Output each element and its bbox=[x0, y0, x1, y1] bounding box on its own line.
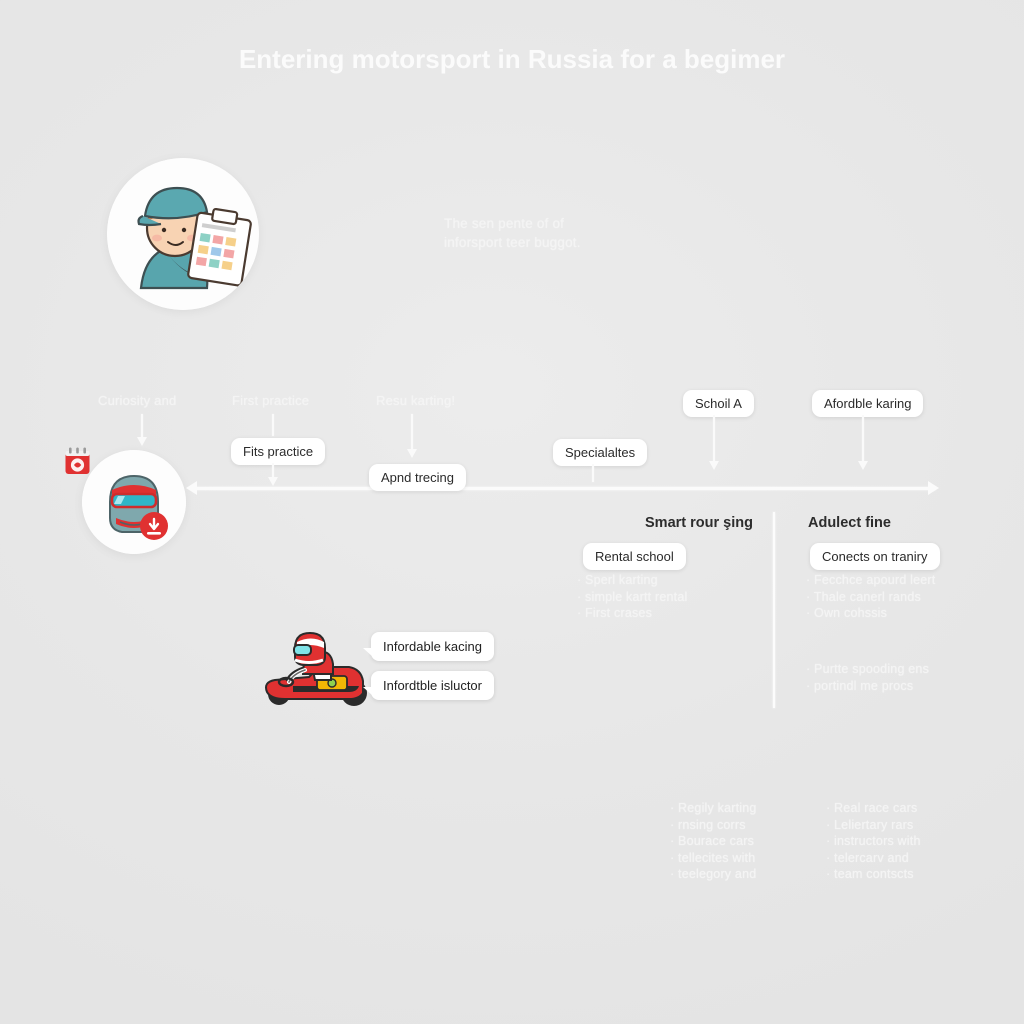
column-2-extra-bullet-1: · Purtte spooding ens bbox=[806, 661, 929, 678]
column-2-extra-bullet-2: · portindl me procs bbox=[806, 678, 929, 695]
timeline-card-specialties[interactable]: Specialaltes bbox=[553, 439, 647, 466]
column-2-bullet-2: · Thale canerl rands bbox=[806, 589, 935, 606]
timeline-stage-label-1: Curiosity and bbox=[98, 393, 176, 408]
footer-col-1-bullet-5: · teelegory and bbox=[670, 866, 757, 883]
column-divider bbox=[773, 512, 775, 708]
go-kart-illustration bbox=[255, 630, 385, 715]
kart-bubble-2[interactable]: Infordtble isluctor bbox=[371, 671, 494, 700]
stage-2-arrow-head bbox=[268, 477, 278, 486]
diagram-canvas: Entering motorsport in Russia for a begi… bbox=[0, 0, 1024, 1024]
column-2-card-contacts[interactable]: Conects on traniry bbox=[810, 543, 940, 570]
stage-4-arrow-line bbox=[592, 464, 594, 482]
column-1-bullet-2: · simple kartt rental bbox=[577, 589, 687, 606]
timeline-card-and-training[interactable]: Apnd trecing bbox=[369, 464, 466, 491]
subtitle-block: The sen pente of of inforsport teer bugg… bbox=[444, 214, 704, 252]
footer-col-1-bullet-1: · Regily karting bbox=[670, 800, 757, 817]
calendar-icon bbox=[64, 446, 91, 476]
column-1-bullet-1: · Sperl karting bbox=[577, 572, 687, 589]
column-1-bullets: · Sperl karting · simple kartt rental · … bbox=[577, 572, 687, 622]
timeline-arrow-left bbox=[186, 481, 197, 495]
footer-col-2-bullet-2: · Leliertary rars bbox=[826, 817, 921, 834]
footer-col-2-bullet-1: · Real race cars bbox=[826, 800, 921, 817]
timeline-card-first-practice[interactable]: Fits practice bbox=[231, 438, 325, 465]
column-1-heading: Smart rour şing bbox=[645, 515, 753, 531]
stage-1-arrow-head bbox=[137, 437, 147, 446]
footer-col-2-bullet-3: · instructors with bbox=[826, 833, 921, 850]
footer-column-2: · Real race cars · Leliertary rars · ins… bbox=[826, 800, 921, 883]
stage-3-arrow-line bbox=[411, 414, 413, 450]
subtitle-line-2: inforsport teer buggot. bbox=[444, 233, 704, 252]
kart-bubble-1[interactable]: Infordable kacing bbox=[371, 632, 494, 661]
footer-col-1-bullet-4: · tellecites with bbox=[670, 850, 757, 867]
stage-6-arrow-head bbox=[858, 461, 868, 470]
stage-2-arrow-line bbox=[272, 414, 274, 436]
stage-6-arrow-line bbox=[862, 415, 864, 463]
timeline-arrow-right bbox=[928, 481, 939, 495]
go-kart-icon bbox=[255, 630, 385, 710]
column-2-bullets: · Fecchce apourd leert · Thale canerl ra… bbox=[806, 572, 935, 622]
racing-helmet-avatar bbox=[82, 450, 186, 554]
footer-col-1-bullet-2: · rnsing corrs bbox=[670, 817, 757, 834]
footer-col-1-bullet-3: · Bourace cars bbox=[670, 833, 757, 850]
page-title: Entering motorsport in Russia for a begi… bbox=[0, 44, 1024, 75]
column-2-heading: Adulect fine bbox=[808, 515, 891, 531]
boy-with-calendar-avatar bbox=[107, 158, 259, 310]
racing-helmet-icon bbox=[82, 450, 186, 554]
column-2-bullet-1: · Fecchce apourd leert bbox=[806, 572, 935, 589]
column-2-bullet-3: · Own cohssis bbox=[806, 605, 935, 622]
timeline-card-affordable-karting[interactable]: Afordble karing bbox=[812, 390, 923, 417]
timeline-stage-label-3: Resu karting! bbox=[376, 393, 455, 408]
calendar-glyph bbox=[64, 446, 91, 476]
footer-col-2-bullet-5: · team contscts bbox=[826, 866, 921, 883]
footer-column-1: · Regily karting · rnsing corrs · Bourac… bbox=[670, 800, 757, 883]
stage-3-arrow-head bbox=[407, 449, 417, 458]
stage-5-arrow-line bbox=[713, 415, 715, 463]
stage-5-arrow-head bbox=[709, 461, 719, 470]
timeline-card-school-a[interactable]: Schoil A bbox=[683, 390, 754, 417]
column-1-card-rental-school[interactable]: Rental school bbox=[583, 543, 686, 570]
timeline-stage-label-2: First practice bbox=[232, 393, 309, 408]
footer-col-2-bullet-4: · telercarv and bbox=[826, 850, 921, 867]
boy-with-calendar-icon bbox=[107, 158, 259, 310]
column-1-bullet-3: · First crases bbox=[577, 605, 687, 622]
timeline-axis bbox=[195, 487, 935, 490]
column-2-extra-bullets: · Purtte spooding ens · portindl me proc… bbox=[806, 661, 929, 694]
subtitle-line-1: The sen pente of of bbox=[444, 214, 704, 233]
stage-1-arrow-line bbox=[141, 414, 143, 438]
